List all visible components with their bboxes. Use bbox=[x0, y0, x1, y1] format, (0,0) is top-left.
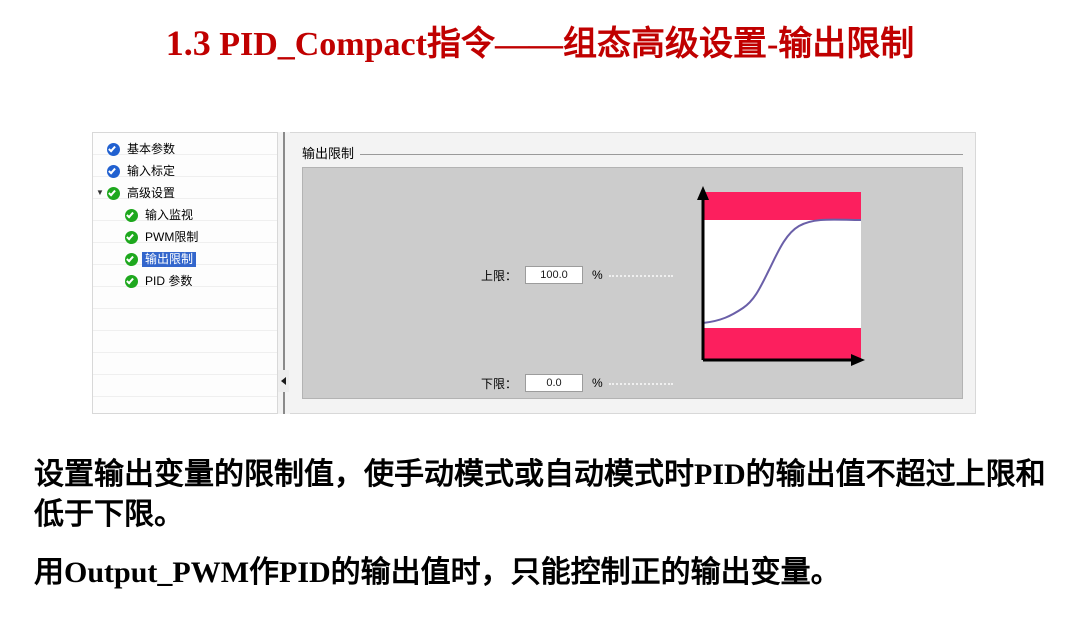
check-circle-icon bbox=[125, 275, 138, 288]
tree-item-pid-parameters[interactable]: PID 参数 bbox=[93, 270, 277, 292]
check-circle-icon bbox=[125, 231, 138, 244]
section-title: 输出限制 bbox=[302, 143, 354, 162]
lower-limit-leader-line bbox=[609, 383, 673, 386]
upper-limit-unit: % bbox=[592, 268, 603, 282]
tree-item-label: PWM限制 bbox=[142, 230, 201, 245]
description-paragraph-2: 用Output_PWM作PID的输出值时，只能控制正的输出变量。 bbox=[34, 553, 1048, 593]
description-paragraph-1: 设置输出变量的限制值，使手动模式或自动模式时PID的输出值不超过上限和低于下限。 bbox=[34, 455, 1048, 535]
upper-limit-input[interactable]: 100.0 bbox=[525, 266, 583, 284]
navigation-tree-panel: 基本参数 输入标定 ▼ 高级设置 输入监视 PWM限制 bbox=[92, 132, 277, 414]
tree-item-output-limits[interactable]: 输出限制 bbox=[93, 248, 277, 270]
tree-item-label: 输入监视 bbox=[142, 208, 196, 223]
check-circle-icon bbox=[125, 253, 138, 266]
check-circle-icon bbox=[107, 187, 120, 200]
tree-item-label: 高级设置 bbox=[124, 186, 178, 201]
tree-item-input-scaling[interactable]: 输入标定 bbox=[93, 160, 277, 182]
section-divider bbox=[360, 154, 963, 155]
tree-item-advanced-settings[interactable]: ▼ 高级设置 bbox=[93, 182, 277, 204]
tree-item-pwm-limits[interactable]: PWM限制 bbox=[93, 226, 277, 248]
upper-limit-label: 上限： bbox=[481, 267, 517, 284]
tree-item-basic-params[interactable]: 基本参数 bbox=[93, 138, 277, 160]
chevron-left-icon bbox=[281, 377, 286, 385]
pid-compact-config-dialog: 基本参数 输入标定 ▼ 高级设置 输入监视 PWM限制 bbox=[92, 132, 976, 414]
collapse-panel-button[interactable] bbox=[278, 370, 289, 392]
page-title: 1.3 PID_Compact指令——组态高级设置-输出限制 bbox=[0, 16, 1080, 65]
band-above-upper-limit bbox=[703, 192, 861, 220]
chart-svg bbox=[669, 182, 869, 382]
output-limits-chart bbox=[669, 182, 869, 382]
lower-limit-unit: % bbox=[592, 376, 603, 390]
band-within-limits bbox=[703, 220, 861, 328]
tree-item-label: PID 参数 bbox=[142, 274, 195, 289]
panel-splitter[interactable] bbox=[277, 132, 290, 414]
tree-item-label: 输出限制 bbox=[142, 252, 196, 267]
check-circle-icon bbox=[107, 165, 120, 178]
tree-item-input-monitoring[interactable]: 输入监视 bbox=[93, 204, 277, 226]
upper-limit-leader-line bbox=[609, 275, 673, 278]
section-header: 输出限制 bbox=[302, 143, 963, 162]
tree-list: 基本参数 输入标定 ▼ 高级设置 输入监视 PWM限制 bbox=[93, 138, 277, 292]
output-limits-content-panel: 输出限制 上限： 100.0 % 下限： 0.0 % bbox=[290, 132, 976, 414]
band-below-lower-limit bbox=[703, 328, 861, 360]
tree-item-label: 基本参数 bbox=[124, 142, 178, 157]
check-circle-icon bbox=[125, 209, 138, 222]
lower-limit-row: 下限： 0.0 % bbox=[481, 374, 603, 392]
check-circle-icon bbox=[107, 143, 120, 156]
lower-limit-label: 下限： bbox=[481, 375, 517, 392]
page-title-number: 1.3 bbox=[166, 23, 211, 63]
lower-limit-input[interactable]: 0.0 bbox=[525, 374, 583, 392]
page-title-text: PID_Compact指令——组态高级设置-输出限制 bbox=[211, 26, 915, 63]
upper-limit-row: 上限： 100.0 % bbox=[481, 266, 603, 284]
output-limits-group-box: 上限： 100.0 % 下限： 0.0 % bbox=[302, 167, 963, 399]
chevron-down-icon[interactable]: ▼ bbox=[93, 189, 107, 197]
tree-item-label: 输入标定 bbox=[124, 164, 178, 179]
